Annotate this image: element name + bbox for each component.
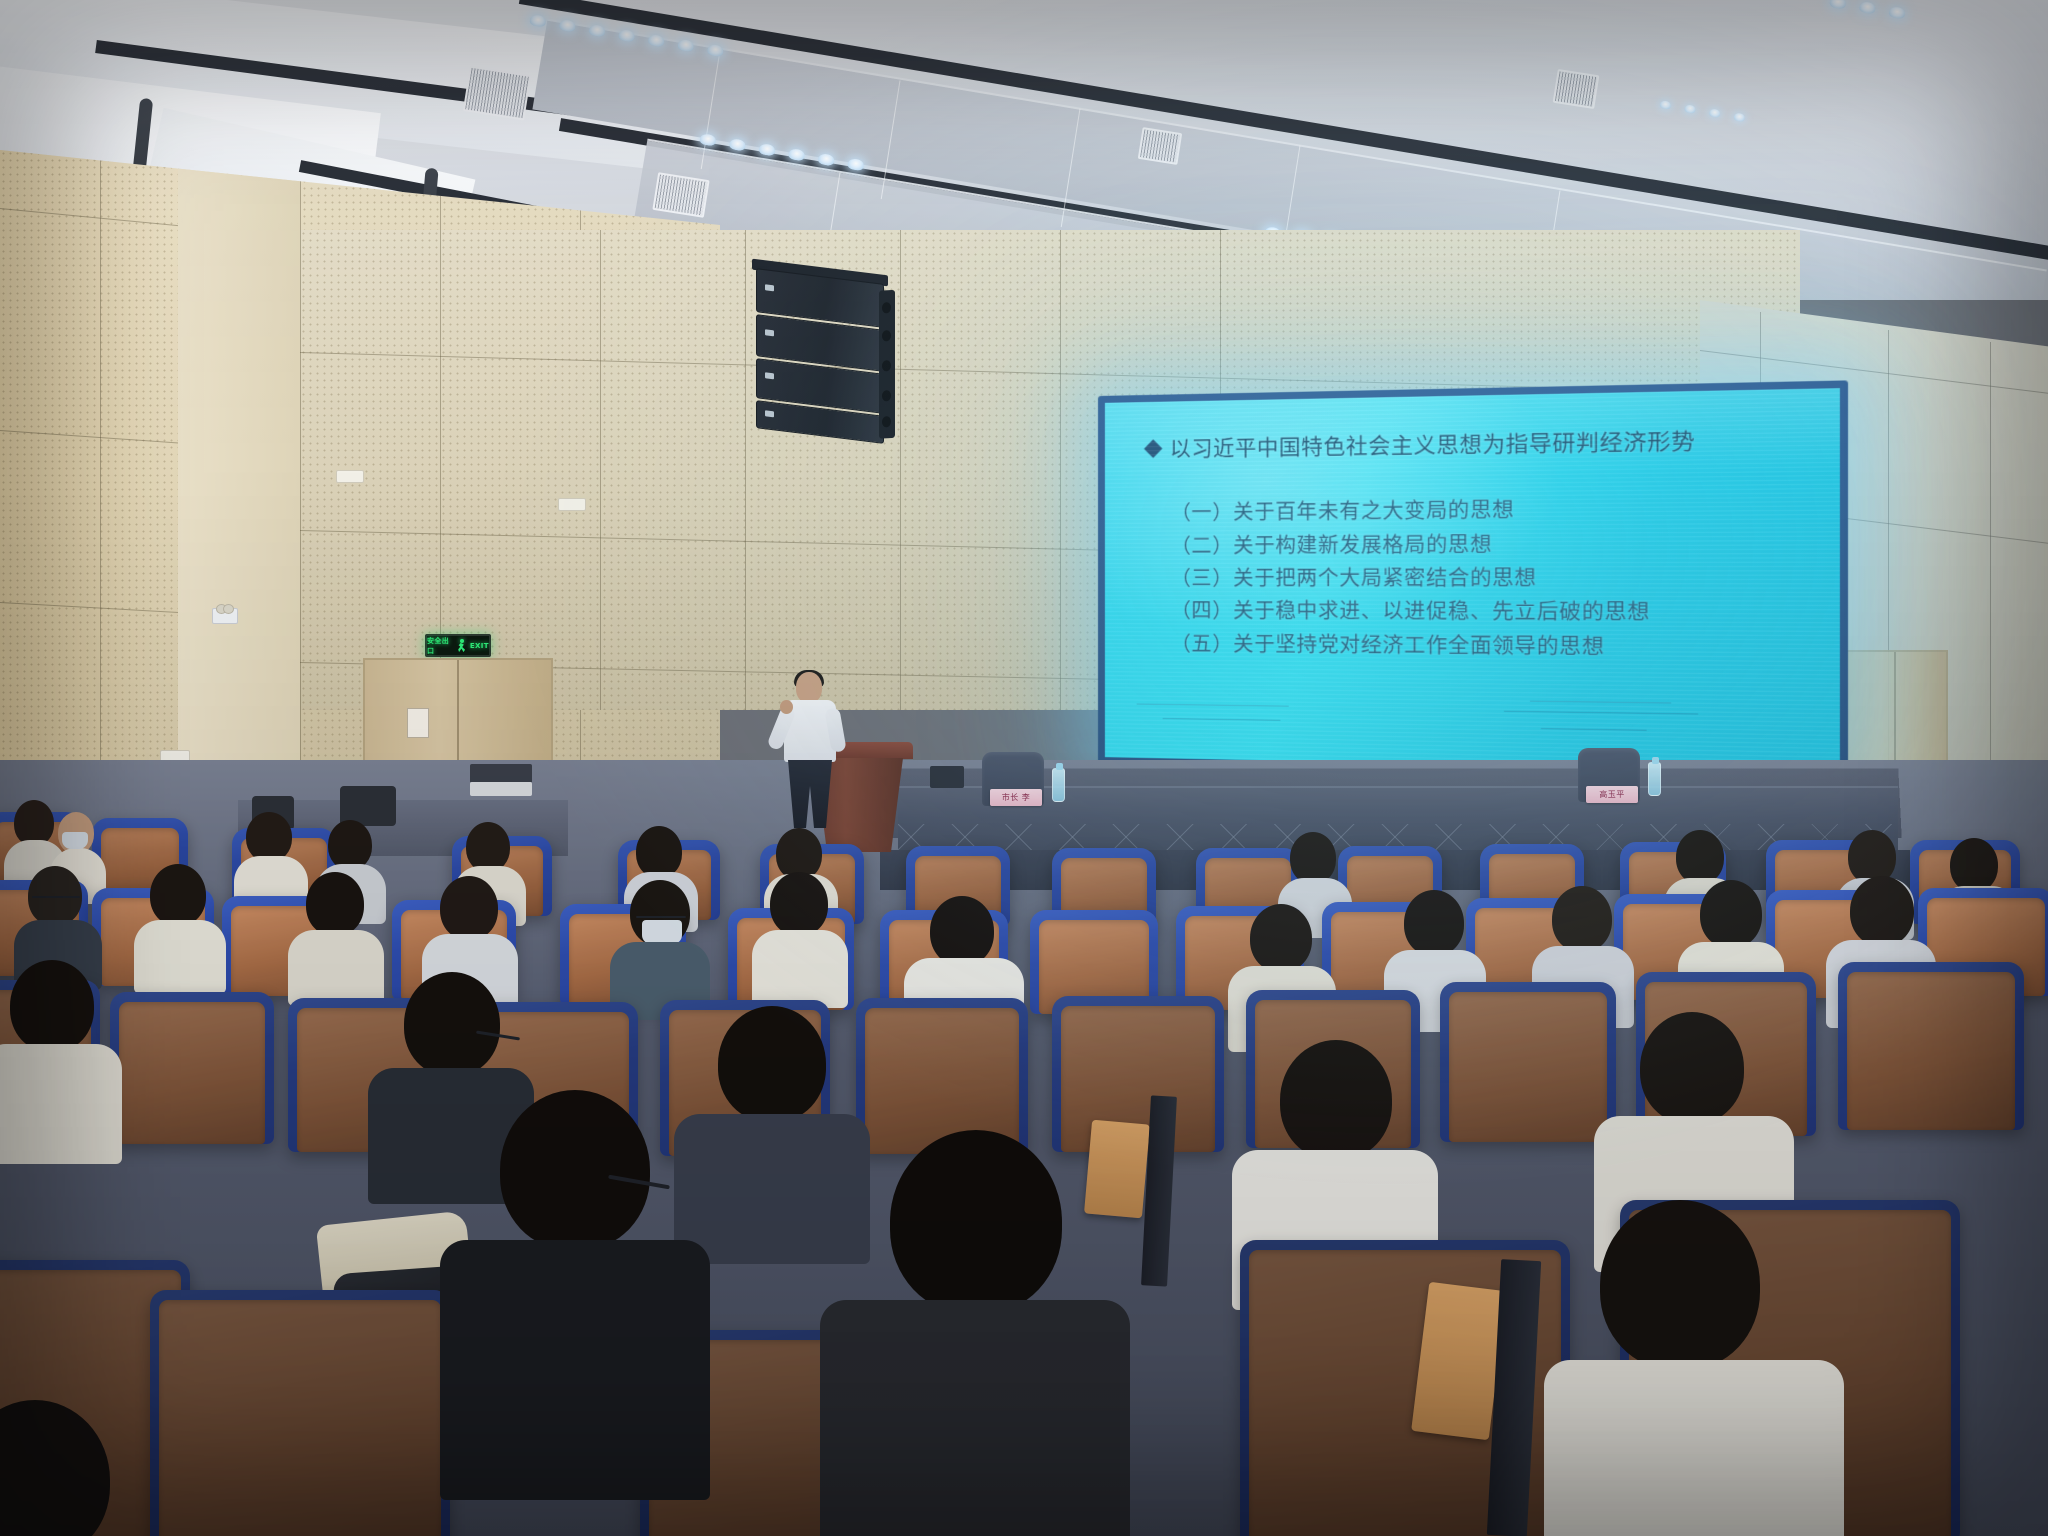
presenter-hand-left xyxy=(780,700,793,714)
seat[interactable] xyxy=(1838,962,2024,1130)
seat[interactable] xyxy=(856,998,1028,1154)
air-vent-icon xyxy=(463,65,531,120)
wall-pilaster xyxy=(178,144,300,784)
led-light-row-4 xyxy=(1829,0,1906,19)
water-bottle-right xyxy=(1648,762,1661,796)
slide-item-3: （三）关于把两个大局紧密结合的思想 xyxy=(1171,561,1806,596)
nameplate-right: 高玉平 xyxy=(1586,786,1638,803)
desk-monitor xyxy=(930,766,964,788)
led-light-row-5 xyxy=(1659,100,1745,122)
slide-title-text: 以习近平中国特色社会主义思想为指导研判经济形势 xyxy=(1170,427,1696,462)
wall-switch-plate xyxy=(558,498,586,511)
exit-sign-left-text: 安全出口 xyxy=(427,636,454,656)
emergency-exit-sign: 安全出口 EXIT xyxy=(425,634,491,657)
seat[interactable] xyxy=(1440,982,1616,1142)
seat[interactable] xyxy=(110,992,274,1144)
presenter-head xyxy=(796,672,822,703)
lecture-hall-photo: 安全出口 EXIT xyxy=(0,0,2048,1536)
exit-sign-right-text: EXIT xyxy=(470,642,489,650)
slide-item-2: （二）关于构建新发展格局的思想 xyxy=(1171,526,1806,562)
air-vent-icon xyxy=(652,172,709,218)
presenter-trousers xyxy=(788,760,832,828)
wall-switch-plate xyxy=(336,470,364,483)
slide-item-1: （一）关于百年未有之大变局的思想 xyxy=(1171,491,1806,530)
presenter xyxy=(770,672,856,828)
running-man-icon xyxy=(457,639,467,652)
line-array-speaker xyxy=(756,268,884,444)
water-bottle-left xyxy=(1052,768,1065,802)
slide-bullet-list: （一）关于百年未有之大变局的思想 （二）关于构建新发展格局的思想 （三）关于把两… xyxy=(1147,491,1806,666)
air-vent-icon xyxy=(1138,127,1183,165)
slide-item-5: （五）关于坚持党对经济工作全面领导的思想 xyxy=(1171,627,1806,665)
nameplate-left: 市长 李 xyxy=(990,789,1042,806)
slide-item-4: （四）关于稳中求进、以进促稳、先立后破的思想 xyxy=(1171,595,1806,631)
seat[interactable] xyxy=(150,1290,450,1536)
emergency-lamp xyxy=(212,608,238,624)
air-vent-icon xyxy=(1553,69,1600,109)
slide-content: 以习近平中国特色社会主义思想为指导研判经济形势 （一）关于百年未有之大变局的思想… xyxy=(1105,388,1840,772)
diamond-bullet-icon xyxy=(1144,439,1162,457)
folding-armrest-table[interactable] xyxy=(1084,1120,1150,1219)
projection-screen: 以习近平中国特色社会主义思想为指导研判经济形势 （一）关于百年未有之大变局的思想… xyxy=(1098,380,1848,779)
slide-title-row: 以习近平中国特色社会主义思想为指导研判经济形势 xyxy=(1147,426,1806,463)
laptop xyxy=(470,782,532,796)
